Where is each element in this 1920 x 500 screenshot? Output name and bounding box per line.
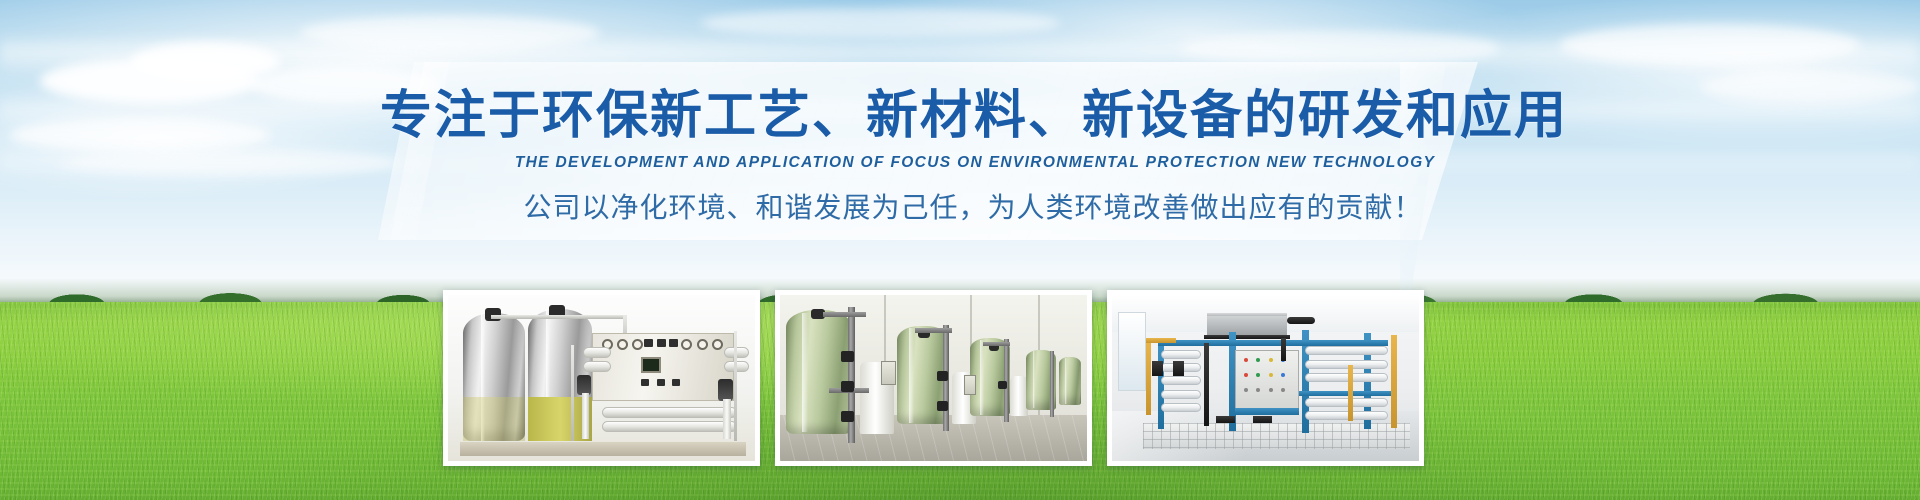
stainless-steel-water-treatment-skid-image [448,295,755,461]
product-photo-3[interactable] [1107,290,1424,466]
product-photo-gallery [443,290,1424,466]
cloud-icon [1180,30,1500,66]
product-photo-2[interactable] [775,290,1092,466]
banner-tagline: 公司以净化环境、和谐发展为己任，为人类环境改善做出应有的贡献！ [0,186,1920,226]
green-frp-filter-vessel-row-image [780,295,1087,461]
hero-banner: 专注于环保新工艺、新材料、新设备的研发和应用 THE DEVELOPMENT A… [0,0,1920,500]
banner-headline: 专注于环保新工艺、新材料、新设备的研发和应用 [0,88,1920,145]
cloud-icon [130,42,280,82]
industrial-reverse-osmosis-plant-hall-image [1112,295,1419,461]
banner-subline: THE DEVELOPMENT AND APPLICATION OF FOCUS… [0,154,1920,172]
product-photo-1[interactable] [443,290,760,466]
cloud-icon [300,16,600,50]
banner-copy: 专注于环保新工艺、新材料、新设备的研发和应用 THE DEVELOPMENT A… [0,88,1920,226]
cloud-icon [700,8,1060,38]
cloud-icon [1560,24,1860,66]
